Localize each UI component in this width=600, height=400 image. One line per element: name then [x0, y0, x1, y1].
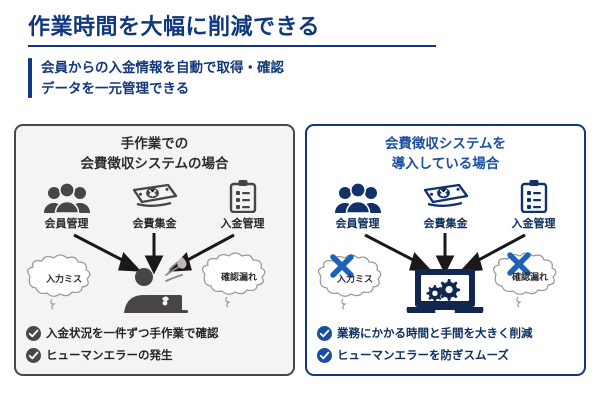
icon-cell-fee-collection: 会費集金 [410, 179, 482, 231]
slide-root: 作業時間を大幅に削減できる 会員からの入金情報を自動で取得・確認 データを一元管… [0, 0, 600, 400]
input-mistake-bubble: 入力ミス [27, 265, 101, 291]
icon-cell-member-management: 会員管理 [322, 179, 394, 231]
check-omission-bubble: 確認漏れ [493, 263, 567, 289]
check-omission-bubble-label: 確認漏れ [221, 270, 257, 283]
list-item-label: ヒューマンエラーを防ぎスムーズ [337, 347, 509, 363]
icon-label-member-management: 会員管理 [31, 215, 103, 231]
icon-label-payment-management: 入金管理 [207, 215, 279, 231]
panel-manual-bullet-list: 入金状況を一件ずつ手作業で確認 ヒューマンエラーの発生 [16, 319, 293, 363]
icon-label-fee-collection: 会費集金 [410, 215, 482, 231]
list-item: 業務にかかる時間と手間を大きく削減 [317, 325, 574, 341]
subtitle-line-1: 会員からの入金情報を自動で取得・確認 [41, 58, 284, 79]
subtitle: 会員からの入金情報を自動で取得・確認 データを一元管理できる [41, 58, 284, 100]
input-mistake-bubble: 入力ミス [318, 265, 392, 291]
icon-cell-payment-management: 入金管理 [498, 179, 570, 231]
icon-cell-payment-management: 入金管理 [207, 179, 279, 231]
list-item-label: 業務にかかる時間と手間を大きく削減 [337, 325, 533, 341]
panel-manual-process: 手作業での 会費徴収システムの場合 [14, 124, 295, 376]
list-item-label: ヒューマンエラーの発生 [46, 347, 173, 363]
icon-label-fee-collection: 会費集金 [119, 215, 191, 231]
panel-manual-title-line-2: 会費徴収システムの場合 [16, 154, 293, 174]
header: 作業時間を大幅に削減できる 会員からの入金情報を自動で取得・確認 データを一元管… [28, 14, 572, 100]
check-circle-icon [317, 348, 332, 363]
banknote-yen-icon [119, 179, 191, 213]
comparison-panels: 手作業での 会費徴収システムの場合 [14, 124, 586, 376]
panel-system-title-line-1: 会費徴収システムを [307, 134, 584, 154]
subtitle-accent-bar [28, 58, 32, 98]
icon-cell-fee-collection: 会費集金 [119, 179, 191, 231]
clipboard-list-icon [498, 179, 570, 213]
list-item-label: 入金状況を一件ずつ手作業で確認 [46, 325, 219, 341]
input-mistake-bubble-label: 入力ミス [337, 272, 373, 285]
subtitle-line-2: データを一元管理できる [41, 79, 284, 100]
panel-system-process: 会費徴収システムを 導入している場合 [305, 124, 586, 376]
panel-manual-icon-row: 会員管理 [16, 179, 293, 231]
list-item: 入金状況を一件ずつ手作業で確認 [26, 325, 283, 341]
panel-manual-title-line-1: 手作業での [16, 134, 293, 154]
check-omission-bubble: 確認漏れ [202, 263, 276, 289]
banknote-yen-icon [410, 179, 482, 213]
input-mistake-bubble-label: 入力ミス [46, 272, 82, 285]
icon-label-payment-management: 入金管理 [498, 215, 570, 231]
icon-label-member-management: 会員管理 [322, 215, 394, 231]
panel-system-title-line-2: 導入している場合 [307, 154, 584, 174]
members-group-icon [31, 179, 103, 213]
check-omission-bubble-label: 確認漏れ [512, 270, 548, 283]
list-item: ヒューマンエラーを防ぎスムーズ [317, 347, 574, 363]
icon-cell-member-management: 会員管理 [31, 179, 103, 231]
check-circle-icon [26, 326, 41, 341]
panel-system-title: 会費徴収システムを 導入している場合 [307, 126, 584, 173]
members-group-icon [322, 179, 394, 213]
clipboard-list-icon [207, 179, 279, 213]
check-circle-icon [317, 326, 332, 341]
page-title: 作業時間を大幅に削減できる [28, 14, 572, 39]
panel-manual-title: 手作業での 会費徴収システムの場合 [16, 126, 293, 173]
panel-system-bullet-list: 業務にかかる時間と手間を大きく削減 ヒューマンエラーを防ぎスムーズ [307, 319, 584, 363]
panel-manual-flow-area: 入力ミス 確認漏れ [16, 233, 293, 313]
title-underline [28, 45, 436, 47]
panel-system-flow-area: 入力ミス 確認漏れ [307, 233, 584, 313]
list-item: ヒューマンエラーの発生 [26, 347, 283, 363]
panel-system-icon-row: 会員管理 [307, 179, 584, 231]
subtitle-block: 会員からの入金情報を自動で取得・確認 データを一元管理できる [28, 58, 572, 100]
check-circle-icon [26, 348, 41, 363]
